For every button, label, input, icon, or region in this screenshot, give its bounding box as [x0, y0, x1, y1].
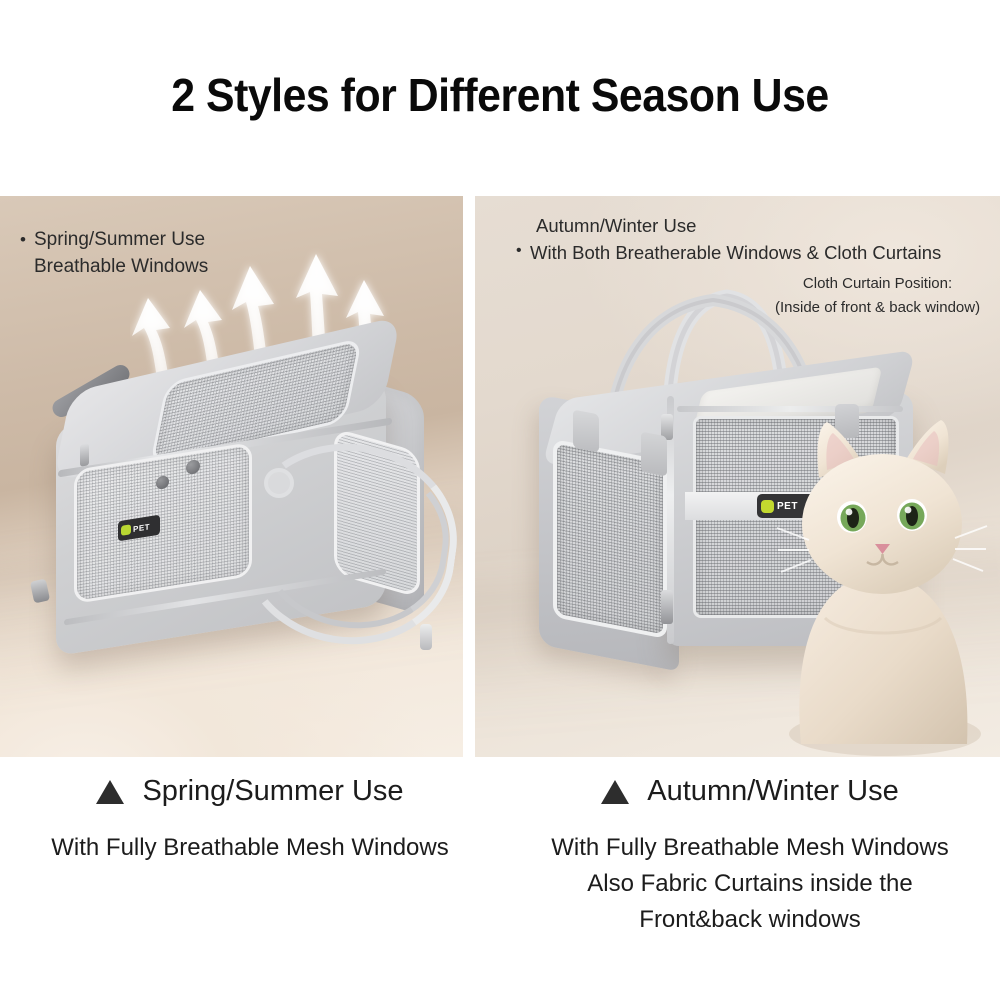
logo-mark-left	[121, 524, 131, 536]
caption-right-heading-row: Autumn/Winter Use	[500, 775, 1000, 808]
triangle-marker-icon	[601, 780, 629, 804]
caption-right-line2: Also Fabric Curtains inside the	[500, 866, 1000, 902]
strap-tab-one	[573, 409, 599, 452]
bullet-left: •	[20, 226, 26, 253]
zipper-pull-left	[80, 443, 89, 466]
overlay-left-line1: Spring/Summer Use	[34, 226, 208, 253]
d-ring-left	[264, 468, 294, 498]
caption-left-heading-row: Spring/Summer Use	[0, 775, 500, 808]
caption-left-heading: Spring/Summer Use	[142, 775, 403, 808]
bag-foot-left	[30, 579, 50, 604]
strap-clip-left	[420, 624, 432, 650]
photo-strip: PET • Spring/Summer Use Breathable Windo…	[0, 196, 1000, 757]
bullet-right: •	[516, 237, 522, 264]
zipper-pull-lower-right	[661, 590, 673, 624]
triangle-marker-icon	[96, 780, 124, 804]
cat-photo	[775, 404, 990, 757]
caption-spring-summer: Spring/Summer Use With Fully Breathable …	[0, 775, 500, 866]
caption-left-body: With Fully Breathable Mesh Windows	[0, 830, 500, 866]
caption-right-line3: Front&back windows	[500, 902, 1000, 938]
overlay-right-line2: With Both Breatherable Windows & Cloth C…	[530, 242, 941, 263]
overlay-text-right: Autumn/Winter Use • With Both Breatherab…	[530, 212, 941, 266]
mesh-window-front-left	[74, 442, 252, 604]
curtain-note-line2: (Inside of front & back window)	[775, 296, 980, 320]
caption-right-heading: Autumn/Winter Use	[647, 775, 898, 808]
cloth-curtain-note: Cloth Curtain Position: (Inside of front…	[775, 272, 980, 320]
strap-tab-two	[641, 431, 667, 476]
pet-carrier-spring-summer: PET	[28, 348, 440, 698]
overlay-text-left: • Spring/Summer Use Breathable Windows	[34, 226, 208, 280]
logo-text-left: PET	[133, 522, 150, 534]
overlay-right-line1: Autumn/Winter Use	[536, 212, 941, 239]
product-infographic: 2 Styles for Different Season Use	[0, 0, 1000, 1000]
page-title: 2 Styles for Different Season Use	[35, 68, 965, 122]
caption-autumn-winter: Autumn/Winter Use With Fully Breathable …	[500, 775, 1000, 938]
caption-right-line1: With Fully Breathable Mesh Windows	[500, 830, 1000, 866]
caption-right-body: With Fully Breathable Mesh Windows Also …	[500, 830, 1000, 938]
photo-spring-summer: PET • Spring/Summer Use Breathable Windo…	[0, 196, 463, 757]
caption-left-line1: With Fully Breathable Mesh Windows	[0, 830, 500, 866]
curtain-note-line1: Cloth Curtain Position:	[775, 272, 980, 296]
photo-autumn-winter: PET	[475, 196, 1000, 757]
logo-mark-right	[761, 500, 774, 513]
overlay-left-line2: Breathable Windows	[34, 253, 208, 280]
